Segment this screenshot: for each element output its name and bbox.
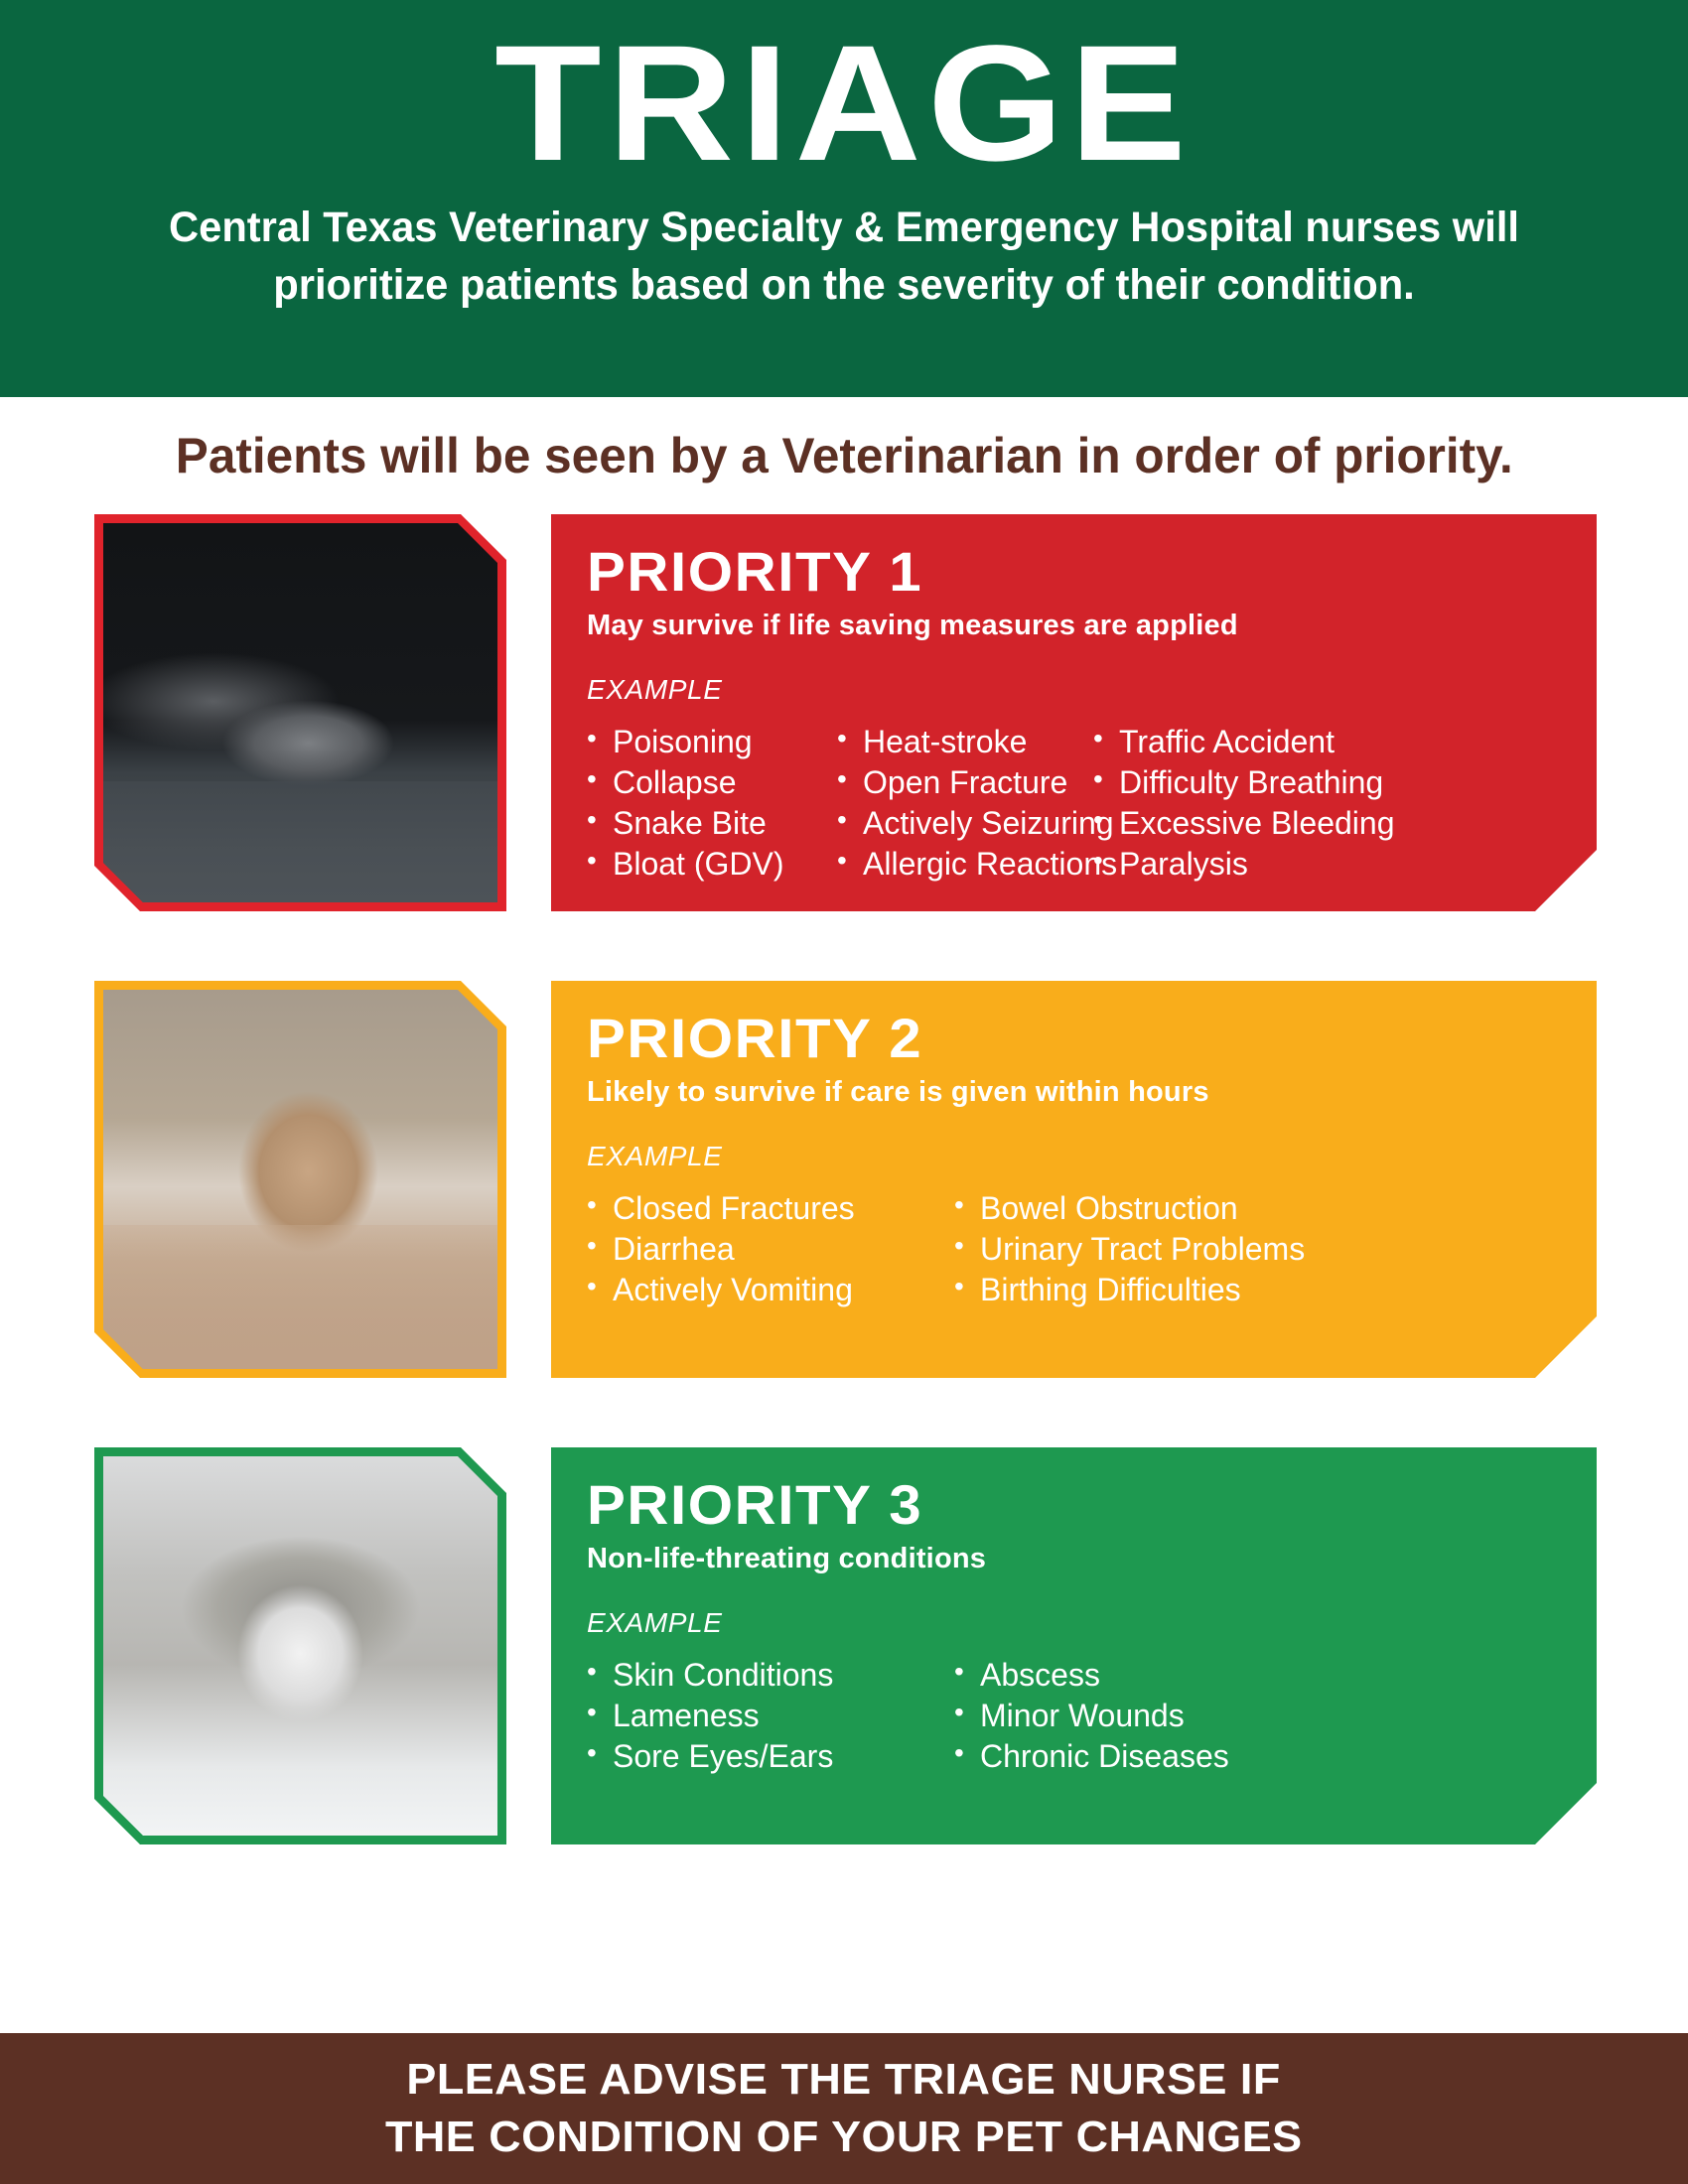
list-item: Lameness xyxy=(587,1696,954,1736)
list-item: Snake Bite xyxy=(587,803,837,844)
priority-row-3: PRIORITY 3 Non-life-threating conditions… xyxy=(0,1447,1688,1844)
priority-2-banner: PRIORITY 2 Likely to survive if care is … xyxy=(551,981,1597,1378)
list-item: Sore Eyes/Ears xyxy=(587,1736,954,1777)
dog-photo-image xyxy=(103,523,497,902)
list-item: Traffic Accident xyxy=(1093,722,1391,762)
poster-subtitle: Central Texas Veterinary Specialty & Eme… xyxy=(102,199,1586,314)
list-item: Paralysis xyxy=(1093,844,1391,885)
priority-3-example-columns: Skin Conditions Lameness Sore Eyes/Ears … xyxy=(587,1655,1541,1777)
list-item: Closed Fractures xyxy=(587,1188,954,1229)
priority-1-photo-frame xyxy=(94,514,506,911)
priority-3-column-2: Abscess Minor Wounds Chronic Diseases xyxy=(954,1655,1272,1777)
priority-1-photo xyxy=(103,523,497,902)
priority-2-example-columns: Closed Fractures Diarrhea Actively Vomit… xyxy=(587,1188,1541,1310)
list-item: Abscess xyxy=(954,1655,1272,1696)
priority-1-example-columns: Poisoning Collapse Snake Bite Bloat (GDV… xyxy=(587,722,1541,885)
list-item: Actively Seizuring xyxy=(837,803,1093,844)
priority-1-column-2: Heat-stroke Open Fracture Actively Seizu… xyxy=(837,722,1093,885)
list-item: Chronic Diseases xyxy=(954,1736,1272,1777)
priority-3-subtitle: Non-life-threating conditions xyxy=(587,1545,1541,1573)
list-item: Collapse xyxy=(587,762,837,803)
priority-1-subtitle: May survive if life saving measures are … xyxy=(587,612,1541,640)
priority-1-banner: PRIORITY 1 May survive if life saving me… xyxy=(551,514,1597,911)
list-item: Diarrhea xyxy=(587,1229,954,1270)
cat-photo-image xyxy=(103,1456,497,1836)
priority-2-photo-frame xyxy=(94,981,506,1378)
priority-2-photo xyxy=(103,990,497,1369)
list-item: Heat-stroke xyxy=(837,722,1093,762)
lead-line-container: Patients will be seen by a Veterinarian … xyxy=(0,397,1688,514)
list-item: Allergic Reactions xyxy=(837,844,1093,885)
lead-line: Patients will be seen by a Veterinarian … xyxy=(176,427,1513,484)
priority-3-example-label: EXAMPLE xyxy=(587,1607,1541,1639)
priority-1-example-label: EXAMPLE xyxy=(587,674,1541,706)
priority-row-2: PRIORITY 2 Likely to survive if care is … xyxy=(0,981,1688,1378)
priority-2-column-2: Bowel Obstruction Urinary Tract Problems… xyxy=(954,1188,1272,1310)
poster-title: TRIAGE xyxy=(495,26,1194,183)
priority-3-title: PRIORITY 3 xyxy=(587,1477,1579,1533)
priority-1-title: PRIORITY 1 xyxy=(587,544,1579,600)
priority-2-subtitle: Likely to survive if care is given withi… xyxy=(587,1078,1541,1107)
list-item: Actively Vomiting xyxy=(587,1270,954,1310)
list-item: Excessive Bleeding xyxy=(1093,803,1391,844)
priority-3-banner: PRIORITY 3 Non-life-threating conditions… xyxy=(551,1447,1597,1844)
priority-1-column-3: Traffic Accident Difficulty Breathing Ex… xyxy=(1093,722,1391,885)
priority-3-photo xyxy=(103,1456,497,1836)
footer-line-1: PLEASE ADVISE THE TRIAGE NURSE IF xyxy=(407,2051,1281,2109)
priority-2-example-label: EXAMPLE xyxy=(587,1141,1541,1172)
list-item: Open Fracture xyxy=(837,762,1093,803)
poster-footer: PLEASE ADVISE THE TRIAGE NURSE IF THE CO… xyxy=(0,2033,1688,2184)
pug-photo-image xyxy=(103,990,497,1369)
priority-rows: PRIORITY 1 May survive if life saving me… xyxy=(0,514,1688,1844)
list-item: Bloat (GDV) xyxy=(587,844,837,885)
list-item: Bowel Obstruction xyxy=(954,1188,1272,1229)
list-item: Minor Wounds xyxy=(954,1696,1272,1736)
list-item: Difficulty Breathing xyxy=(1093,762,1391,803)
list-item: Skin Conditions xyxy=(587,1655,954,1696)
list-item: Poisoning xyxy=(587,722,837,762)
footer-line-2: THE CONDITION OF YOUR PET CHANGES xyxy=(385,2109,1303,2166)
priority-3-column-1: Skin Conditions Lameness Sore Eyes/Ears xyxy=(587,1655,954,1777)
priority-2-column-1: Closed Fractures Diarrhea Actively Vomit… xyxy=(587,1188,954,1310)
list-item: Urinary Tract Problems xyxy=(954,1229,1272,1270)
priority-1-column-1: Poisoning Collapse Snake Bite Bloat (GDV… xyxy=(587,722,837,885)
priority-3-photo-frame xyxy=(94,1447,506,1844)
list-item: Birthing Difficulties xyxy=(954,1270,1272,1310)
priority-row-1: PRIORITY 1 May survive if life saving me… xyxy=(0,514,1688,911)
priority-2-title: PRIORITY 2 xyxy=(587,1011,1579,1066)
poster-header: TRIAGE Central Texas Veterinary Specialt… xyxy=(0,0,1688,397)
